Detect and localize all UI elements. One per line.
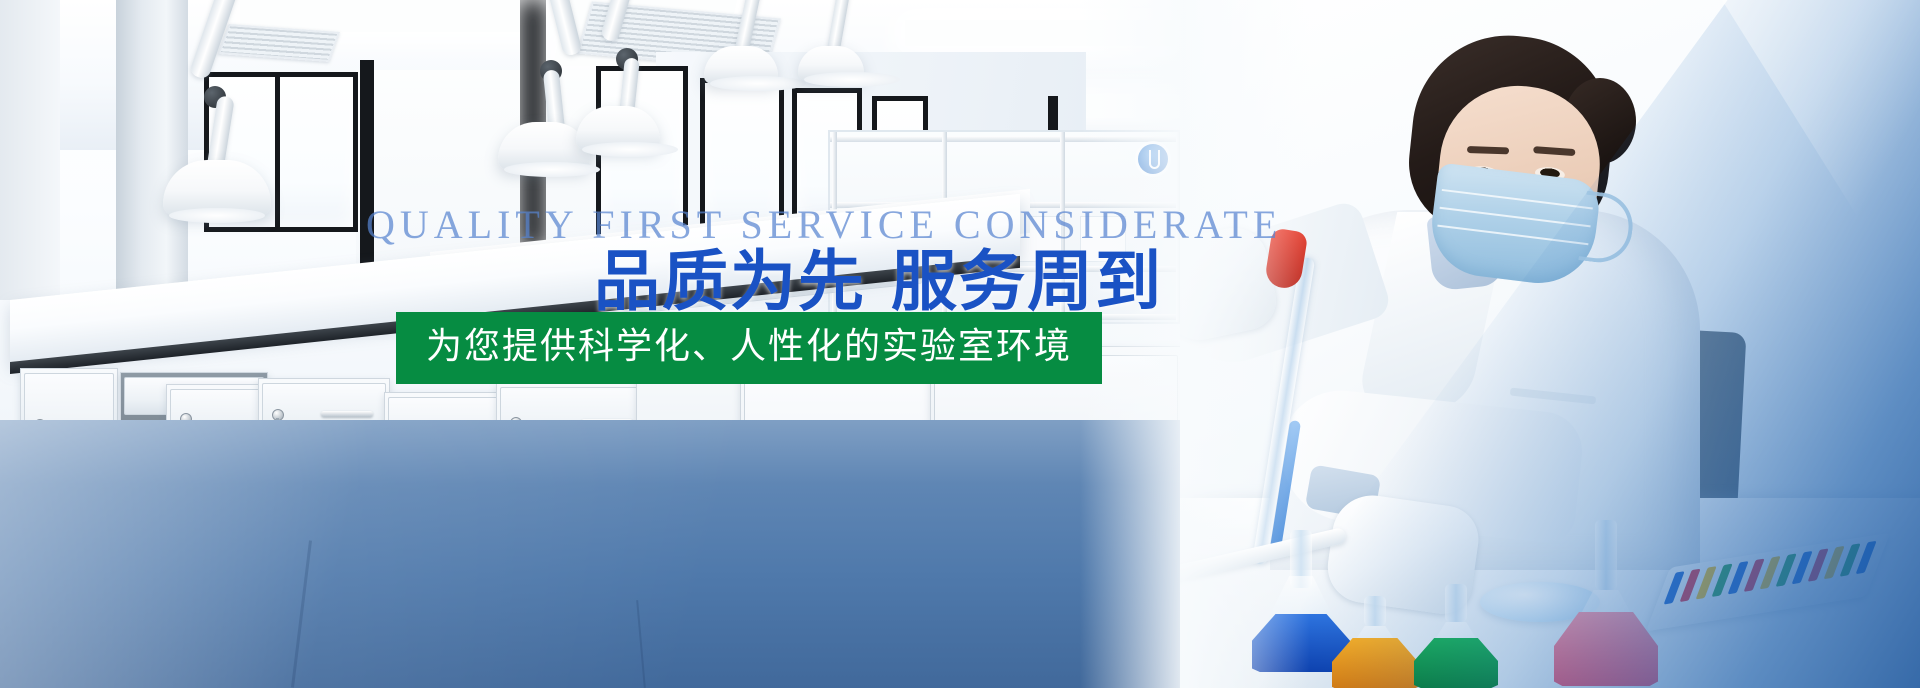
- technician-photo: [1180, 0, 1920, 688]
- floor-reflection: [0, 420, 1180, 688]
- erlenmeyer-flask: [1554, 520, 1658, 686]
- window-mullion: [360, 60, 374, 290]
- structural-pillar: [116, 0, 188, 300]
- laboratory-photo: [0, 0, 1180, 688]
- erlenmeyer-flask: [1332, 596, 1418, 688]
- erlenmeyer-flask: [1414, 584, 1498, 688]
- company-logo-icon: [1138, 144, 1168, 174]
- ceiling-light-panel: [905, 20, 1175, 46]
- promo-banner: QUALITY FIRST SERVICE CONSIDERATE 品质为先 服…: [0, 0, 1920, 688]
- wall-column: [0, 0, 60, 300]
- window: [700, 78, 784, 238]
